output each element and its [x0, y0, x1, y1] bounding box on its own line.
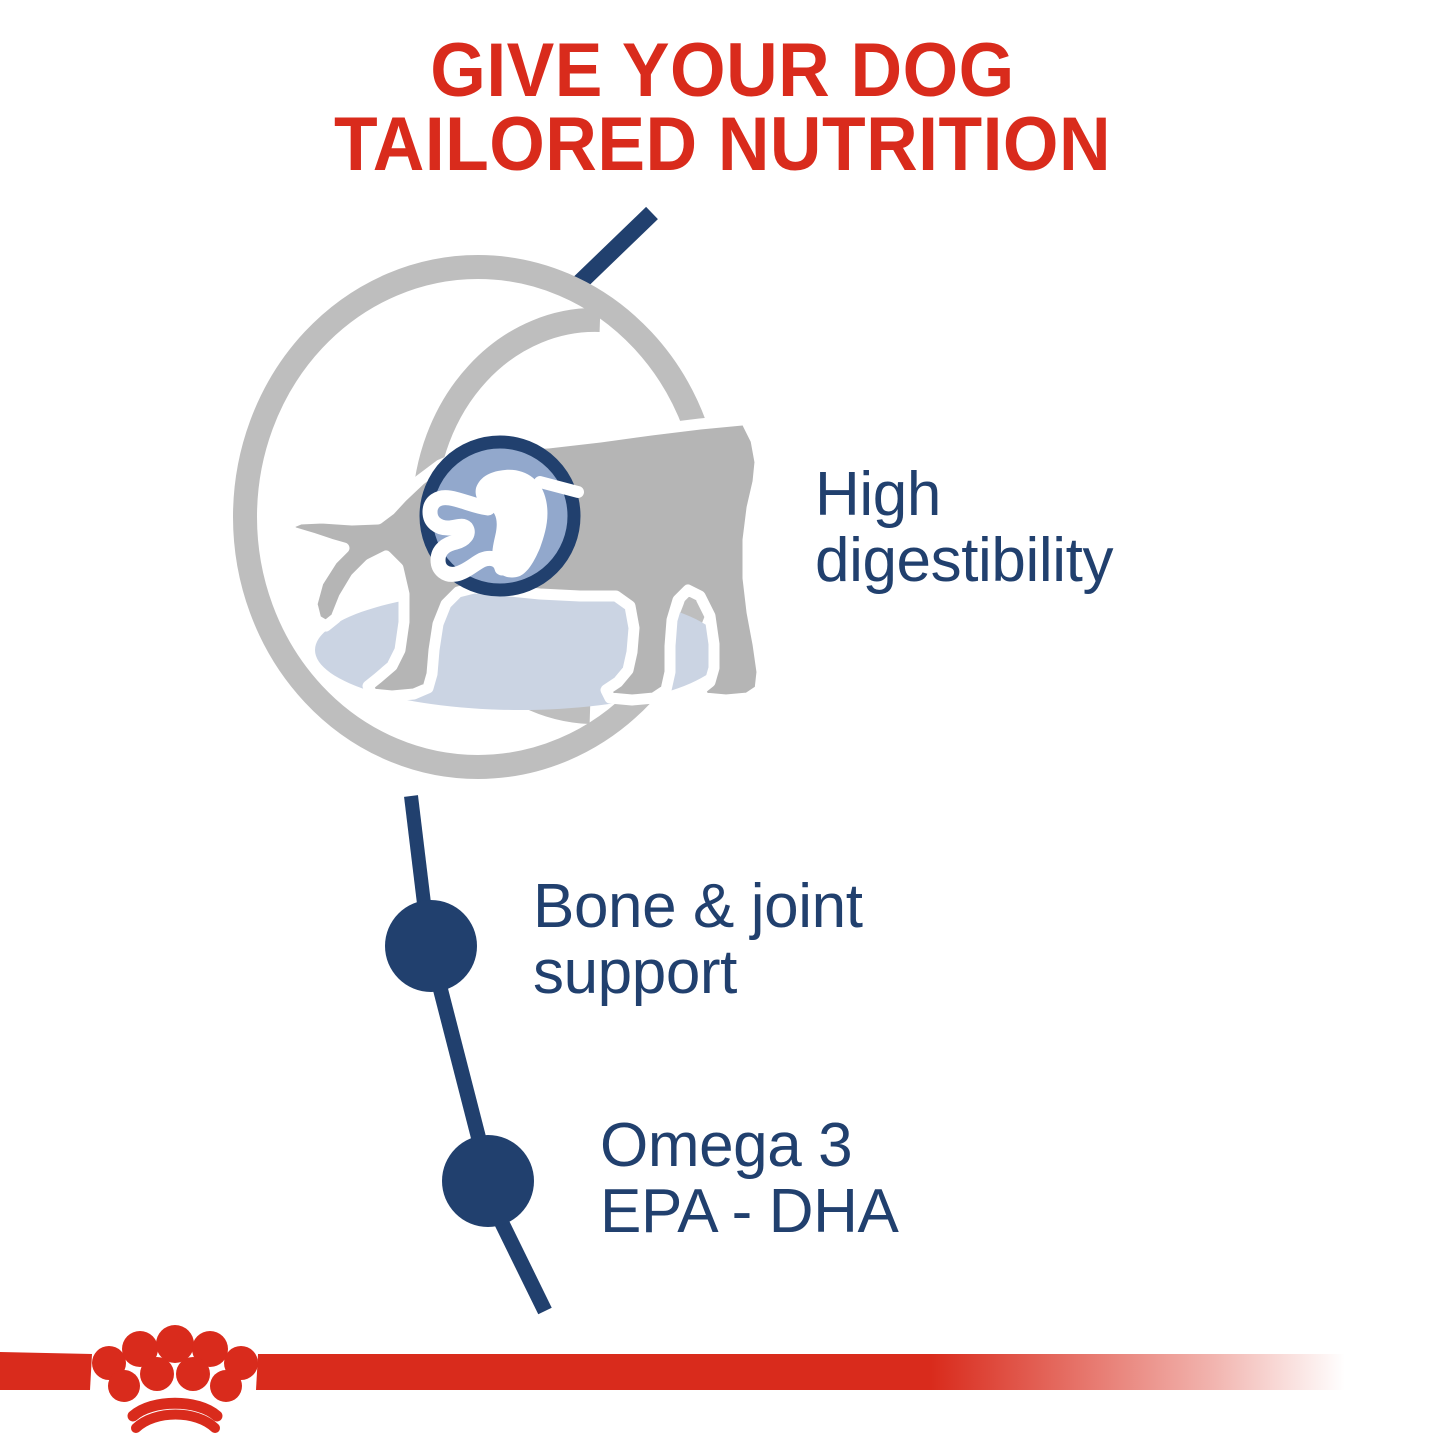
benefit-label-bone-joint-support: Bone & joint support: [533, 874, 863, 1005]
product-benefits-panel: GIVE YOUR DOG TAILORED NUTRITION: [0, 0, 1445, 1445]
crown-arc-inner: [136, 1415, 215, 1429]
digestive-highlight-marker: [426, 442, 578, 590]
crown-dot-low-2: [140, 1357, 174, 1391]
crown-dot-low-1: [108, 1370, 140, 1402]
crown-dot-top-3: [156, 1325, 194, 1363]
footer-brand-bar: [0, 1320, 1445, 1445]
connector-line-2: [436, 972, 483, 1155]
brand-bar-right: [256, 1354, 1345, 1390]
bullet-dot-1: [385, 900, 477, 992]
benefit-label-line-2: digestibility: [815, 528, 1113, 594]
benefit-label-line-1: High: [815, 462, 1113, 528]
bullet-dot-2: [442, 1135, 534, 1227]
royal-canin-crown-logo: [92, 1325, 258, 1428]
benefit-label-line-1: Omega 3: [600, 1113, 898, 1179]
benefit-label-line-2: EPA - DHA: [600, 1179, 898, 1245]
crown-dot-low-4: [210, 1370, 242, 1402]
benefit-label-omega-3-epa-dha: Omega 3 EPA - DHA: [600, 1113, 898, 1244]
benefit-label-high-digestibility: High digestibility: [815, 462, 1113, 593]
brand-bar-left: [0, 1352, 92, 1390]
benefit-label-line-2: support: [533, 940, 863, 1006]
crown-dot-low-3: [176, 1357, 210, 1391]
benefit-label-line-1: Bone & joint: [533, 874, 863, 940]
